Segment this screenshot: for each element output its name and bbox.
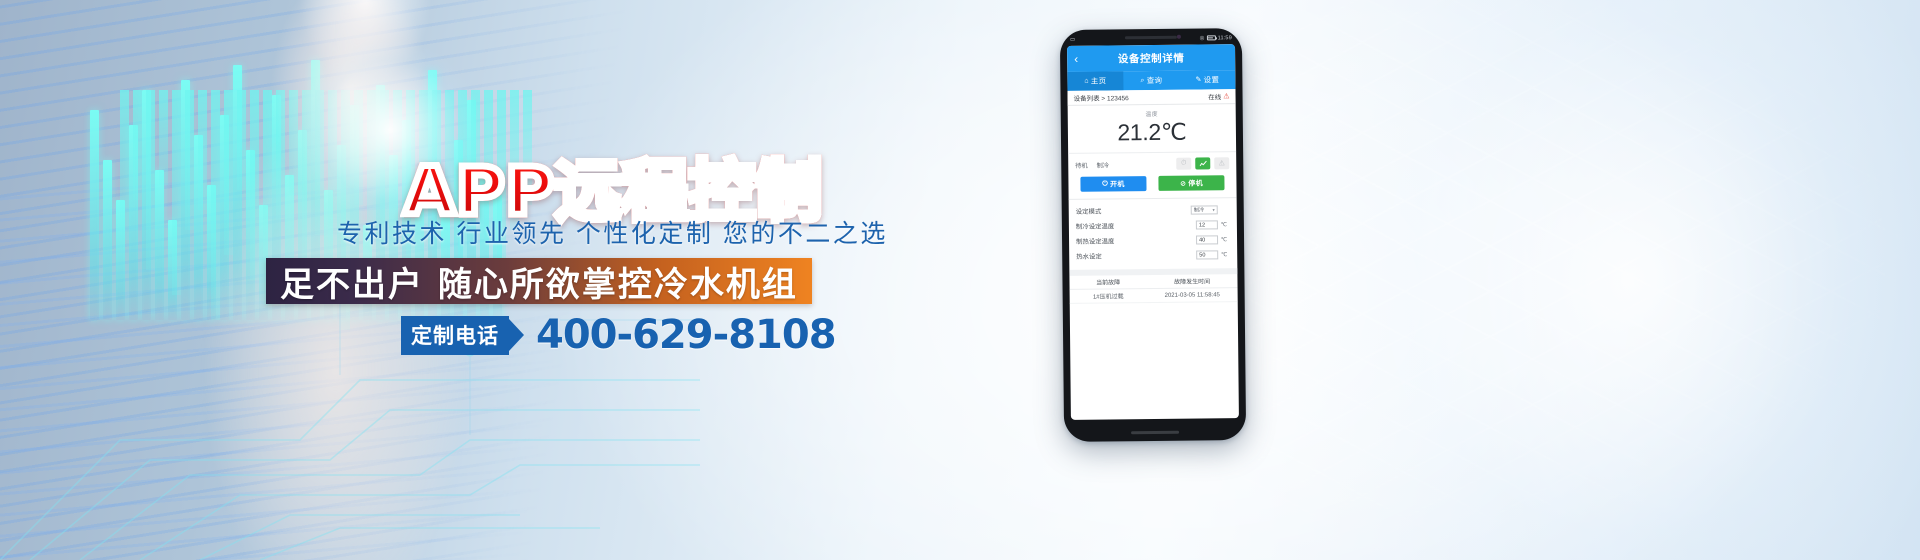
app-title: 设备控制详情 xyxy=(1067,50,1235,67)
temperature-block: 温度 21.2℃ xyxy=(1068,104,1236,154)
battery-icon xyxy=(1207,35,1216,40)
location-icon: ◎ xyxy=(1200,35,1205,41)
settings-list: 设定模式 制冷 ▾ 制冷设定温度 12 ℃ 制热设定温度 40 ℃ xyxy=(1069,198,1238,266)
power-on-label: 开机 xyxy=(1110,179,1125,189)
cool-temp-input[interactable]: 12 xyxy=(1196,220,1218,229)
setting-label-mode: 设定模式 xyxy=(1076,206,1191,216)
status-badge-label: 在线 xyxy=(1208,91,1221,101)
telephone-label: 定制电话 xyxy=(401,316,509,355)
fault-table: 当前故障 故障发生时间 1#压机过载 2021-03-05 11:58:45 xyxy=(1069,268,1237,304)
mode-tag-standby: 待机 xyxy=(1075,160,1087,169)
mode-select[interactable]: 制冷 ▾ xyxy=(1191,205,1218,214)
stop-icon: ⊘ xyxy=(1180,179,1186,187)
telephone-row: 定制电话 400-629-8108 xyxy=(401,312,836,358)
breadcrumb-bar: 设备列表 > 123456 在线 ⚠ xyxy=(1067,89,1235,106)
wrench-icon: ✎ xyxy=(1195,76,1201,83)
hot-water-input[interactable]: 50 xyxy=(1196,250,1218,259)
highlight-band-text: 足不出户 随心所欲掌控冷水机组 xyxy=(280,257,798,306)
warning-triangle-icon: ⚠ xyxy=(1223,92,1229,100)
status-badge: 在线 ⚠ xyxy=(1208,91,1229,101)
power-off-button[interactable]: ⊘ 停机 xyxy=(1158,175,1224,191)
mode-row: 待机 制冷 ⏱ ⚠ xyxy=(1068,152,1236,174)
mode-tag-cooling: 制冷 xyxy=(1097,160,1109,169)
chart-icon-glyph xyxy=(1199,159,1207,167)
setting-label-cool-temp: 制冷设定温度 xyxy=(1076,221,1196,231)
setting-unit-cool-temp: ℃ xyxy=(1218,222,1230,228)
phone-screen: ‹ 设备控制详情 ⌂ 主页 ⌕ 查询 ✎ 设置 设备列表 > 123456 xyxy=(1067,44,1239,420)
fault-name: 1#压机过载 xyxy=(1070,291,1147,301)
home-indicator xyxy=(1131,431,1179,435)
background-right-glow xyxy=(1280,0,1920,560)
setting-row-mode: 设定模式 制冷 ▾ xyxy=(1076,202,1230,219)
setting-label-hot-water: 热水设定 xyxy=(1076,251,1196,261)
temperature-label: 温度 xyxy=(1068,108,1236,119)
marketing-copy: APP远程控制 专利技术 行业领先 个性化定制 您的不二之选 足不出户 随心所欲… xyxy=(0,0,1000,560)
phone-mockup: ▭ ◎ 11:59 ‹ 设备控制详情 ⌂ 主页 ⌕ 查询 xyxy=(1060,28,1246,442)
timer-icon[interactable]: ⏱ xyxy=(1176,158,1191,170)
power-button-row: ⏻ 开机 ⊘ 停机 xyxy=(1068,172,1236,200)
setting-row-hot-water: 热水设定 50 ℃ xyxy=(1076,247,1230,264)
telephone-number[interactable]: 400-629-8108 xyxy=(536,312,836,358)
app-tab-bar: ⌂ 主页 ⌕ 查询 ✎ 设置 xyxy=(1067,70,1235,91)
tab-home-label: 主页 xyxy=(1091,75,1107,86)
tab-home[interactable]: ⌂ 主页 xyxy=(1067,71,1123,91)
back-icon[interactable]: ‹ xyxy=(1074,53,1078,65)
breadcrumb[interactable]: 设备列表 > 123456 xyxy=(1074,92,1129,103)
setting-label-heat-temp: 制热设定温度 xyxy=(1076,236,1196,246)
phone-status-bar: ▭ ◎ 11:59 xyxy=(1070,32,1232,45)
fault-table-header-time: 故障发生时间 xyxy=(1147,276,1238,286)
alarm-icon[interactable]: ⚠ xyxy=(1214,157,1229,169)
sim-card-icon: ▭ xyxy=(1070,36,1075,42)
heat-temp-input[interactable]: 40 xyxy=(1196,235,1218,244)
power-icon: ⏻ xyxy=(1102,180,1108,188)
search-icon: ⌕ xyxy=(1140,77,1144,84)
temperature-value: 21.2℃ xyxy=(1068,118,1236,147)
setting-unit-heat-temp: ℃ xyxy=(1218,237,1230,243)
setting-row-heat-temp: 制热设定温度 40 ℃ xyxy=(1076,232,1230,249)
fault-time: 2021-03-05 11:58:45 xyxy=(1147,292,1238,299)
setting-unit-hot-water: ℃ xyxy=(1218,252,1230,258)
arrow-right-icon xyxy=(509,319,524,351)
tab-settings[interactable]: ✎ 设置 xyxy=(1179,70,1235,90)
chart-icon[interactable] xyxy=(1195,157,1210,169)
app-header: ‹ 设备控制详情 xyxy=(1067,44,1235,72)
status-time: 11:59 xyxy=(1218,35,1232,41)
subtitle: 专利技术 行业领先 个性化定制 您的不二之选 xyxy=(337,214,888,250)
mode-select-value: 制冷 xyxy=(1194,206,1204,213)
banner-stage: APP远程控制 专利技术 行业领先 个性化定制 您的不二之选 足不出户 随心所欲… xyxy=(0,0,1920,560)
chevron-down-icon: ▾ xyxy=(1212,207,1214,213)
tab-settings-label: 设置 xyxy=(1204,74,1220,85)
tab-query[interactable]: ⌕ 查询 xyxy=(1123,71,1179,91)
fault-table-header-fault: 当前故障 xyxy=(1069,277,1146,287)
table-row[interactable]: 1#压机过载 2021-03-05 11:58:45 xyxy=(1070,288,1238,304)
power-off-label: 停机 xyxy=(1188,178,1203,188)
setting-row-cool-temp: 制冷设定温度 12 ℃ xyxy=(1076,217,1230,234)
highlight-band: 足不出户 随心所欲掌控冷水机组 xyxy=(266,258,812,304)
tab-query-label: 查询 xyxy=(1147,75,1163,86)
power-on-button[interactable]: ⏻ 开机 xyxy=(1080,176,1146,192)
home-icon: ⌂ xyxy=(1084,78,1089,85)
